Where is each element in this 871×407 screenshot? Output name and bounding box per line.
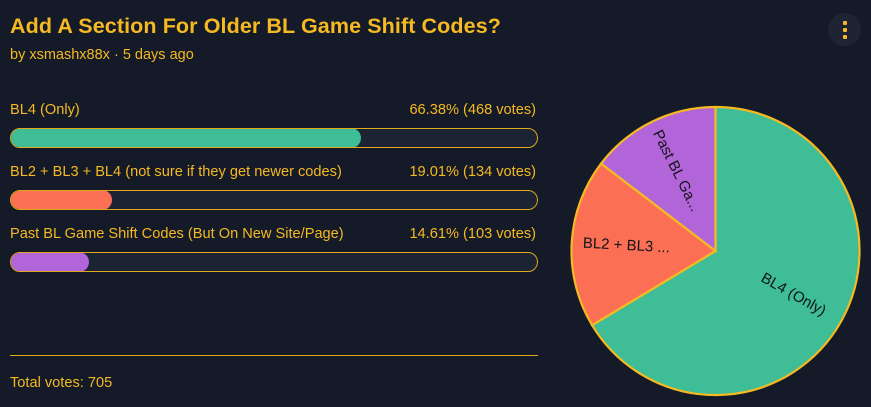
poll-option-row[interactable]: BL4 (Only) 66.38% (468 votes) xyxy=(10,100,538,148)
poll-option-bar-track xyxy=(10,252,538,272)
kebab-dot-3 xyxy=(843,35,847,39)
poll-option-header: BL4 (Only) 66.38% (468 votes) xyxy=(10,100,538,121)
pie-chart-svg: BL4 (Only)BL2 + BL3 ...Past BL Ga... xyxy=(560,95,871,407)
poll-option-label: Past BL Game Shift Codes (But On New Sit… xyxy=(10,224,344,245)
poll-pie-chart: BL4 (Only)BL2 + BL3 ...Past BL Ga... xyxy=(560,95,871,407)
poll-widget: Add A Section For Older BL Game Shift Co… xyxy=(0,0,871,407)
page-title: Add A Section For Older BL Game Shift Co… xyxy=(10,13,810,39)
poll-option-bar-fill xyxy=(10,128,361,148)
poll-option-row[interactable]: BL2 + BL3 + BL4 (not sure if they get ne… xyxy=(10,162,538,210)
poll-option-row[interactable]: Past BL Game Shift Codes (But On New Sit… xyxy=(10,224,538,272)
poll-option-bar-fill xyxy=(10,252,89,272)
poll-option-stat: 66.38% (468 votes) xyxy=(409,100,538,121)
poll-option-label: BL2 + BL3 + BL4 (not sure if they get ne… xyxy=(10,162,342,183)
poll-option-header: BL2 + BL3 + BL4 (not sure if they get ne… xyxy=(10,162,538,183)
poll-footer: Total votes: 705 xyxy=(10,355,538,393)
kebab-dot-1 xyxy=(843,21,847,25)
kebab-menu-icon[interactable] xyxy=(828,13,861,46)
total-votes-label: Total votes: 705 xyxy=(10,373,538,393)
poll-option-header: Past BL Game Shift Codes (But On New Sit… xyxy=(10,224,538,245)
poll-byline: by xsmashx88x · 5 days ago xyxy=(10,46,810,65)
divider xyxy=(10,355,538,356)
kebab-dot-2 xyxy=(843,28,847,32)
poll-option-bar-fill xyxy=(10,190,112,210)
poll-option-label: BL4 (Only) xyxy=(10,100,80,121)
poll-option-stat: 14.61% (103 votes) xyxy=(409,224,538,245)
poll-option-bar-track xyxy=(10,128,538,148)
poll-options-list: BL4 (Only) 66.38% (468 votes) BL2 + BL3 … xyxy=(10,100,538,286)
poll-option-bar-track xyxy=(10,190,538,210)
poll-header: Add A Section For Older BL Game Shift Co… xyxy=(10,13,810,65)
poll-option-stat: 19.01% (134 votes) xyxy=(409,162,538,183)
